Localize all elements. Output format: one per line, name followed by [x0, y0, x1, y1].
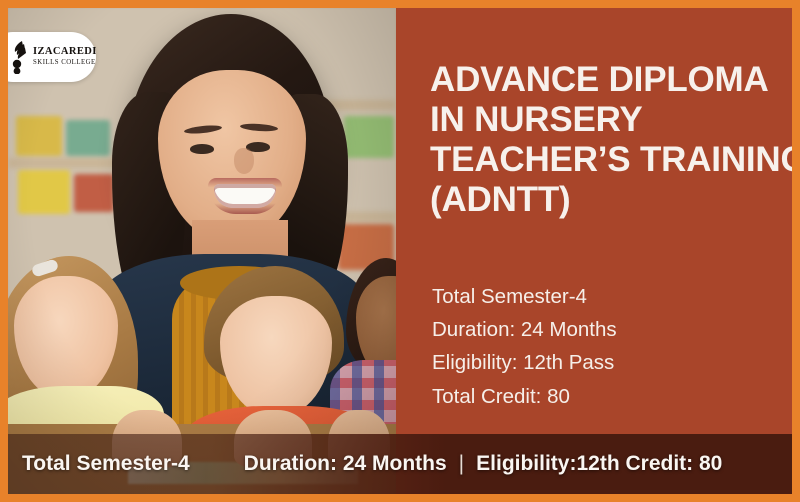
poster-canvas: IZACAREDI SKILLS COLLEGE ADVANCE DIPLOMA…: [8, 8, 792, 494]
college-logo[interactable]: IZACAREDI SKILLS COLLEGE: [8, 32, 96, 82]
course-title: ADVANCE DIPLOMA IN NURSERY TEACHER’S TRA…: [430, 60, 774, 220]
detail-duration: Duration: 24 Months: [432, 313, 617, 346]
cubby-bin: [18, 170, 70, 214]
leaf-emblem-icon: [12, 40, 28, 74]
course-title-line-3: TEACHER’S TRAINING: [430, 140, 774, 180]
teacher-eye: [190, 144, 214, 154]
course-title-line-4: (ADNTT): [430, 180, 774, 220]
cubby-bin: [344, 116, 394, 158]
logo-text-block: IZACAREDI SKILLS COLLEGE: [33, 47, 97, 66]
logo-name: IZACAREDI: [33, 47, 97, 58]
summary-banner: Total Semester-4 Duration: 24 Months | E…: [8, 434, 792, 494]
cubby-bin: [74, 174, 114, 212]
cubby-bin: [16, 116, 62, 156]
banner-separator: |: [459, 452, 464, 476]
banner-eligibility-credit: Eligibility:12th Credit: 80: [476, 452, 722, 476]
course-title-line-1: ADVANCE DIPLOMA: [430, 60, 774, 100]
banner-total-semester: Total Semester-4: [22, 452, 190, 476]
course-title-line-2: IN NURSERY: [430, 100, 774, 140]
detail-total-semester: Total Semester-4: [432, 280, 617, 313]
teacher-nose: [234, 148, 254, 174]
course-info-panel: ADVANCE DIPLOMA IN NURSERY TEACHER’S TRA…: [396, 8, 792, 494]
course-details-list: Total Semester-4 Duration: 24 Months Eli…: [432, 280, 617, 413]
shelf-board: [8, 158, 128, 168]
course-poster: IZACAREDI SKILLS COLLEGE ADVANCE DIPLOMA…: [0, 0, 800, 502]
teacher-smile: [214, 184, 276, 208]
detail-total-credit: Total Credit: 80: [432, 380, 617, 413]
logo-subtitle: SKILLS COLLEGE: [33, 60, 97, 67]
detail-eligibility: Eligibility: 12th Pass: [432, 346, 617, 379]
cubby-bin: [66, 120, 110, 156]
banner-duration: Duration: 24 Months: [244, 452, 447, 476]
